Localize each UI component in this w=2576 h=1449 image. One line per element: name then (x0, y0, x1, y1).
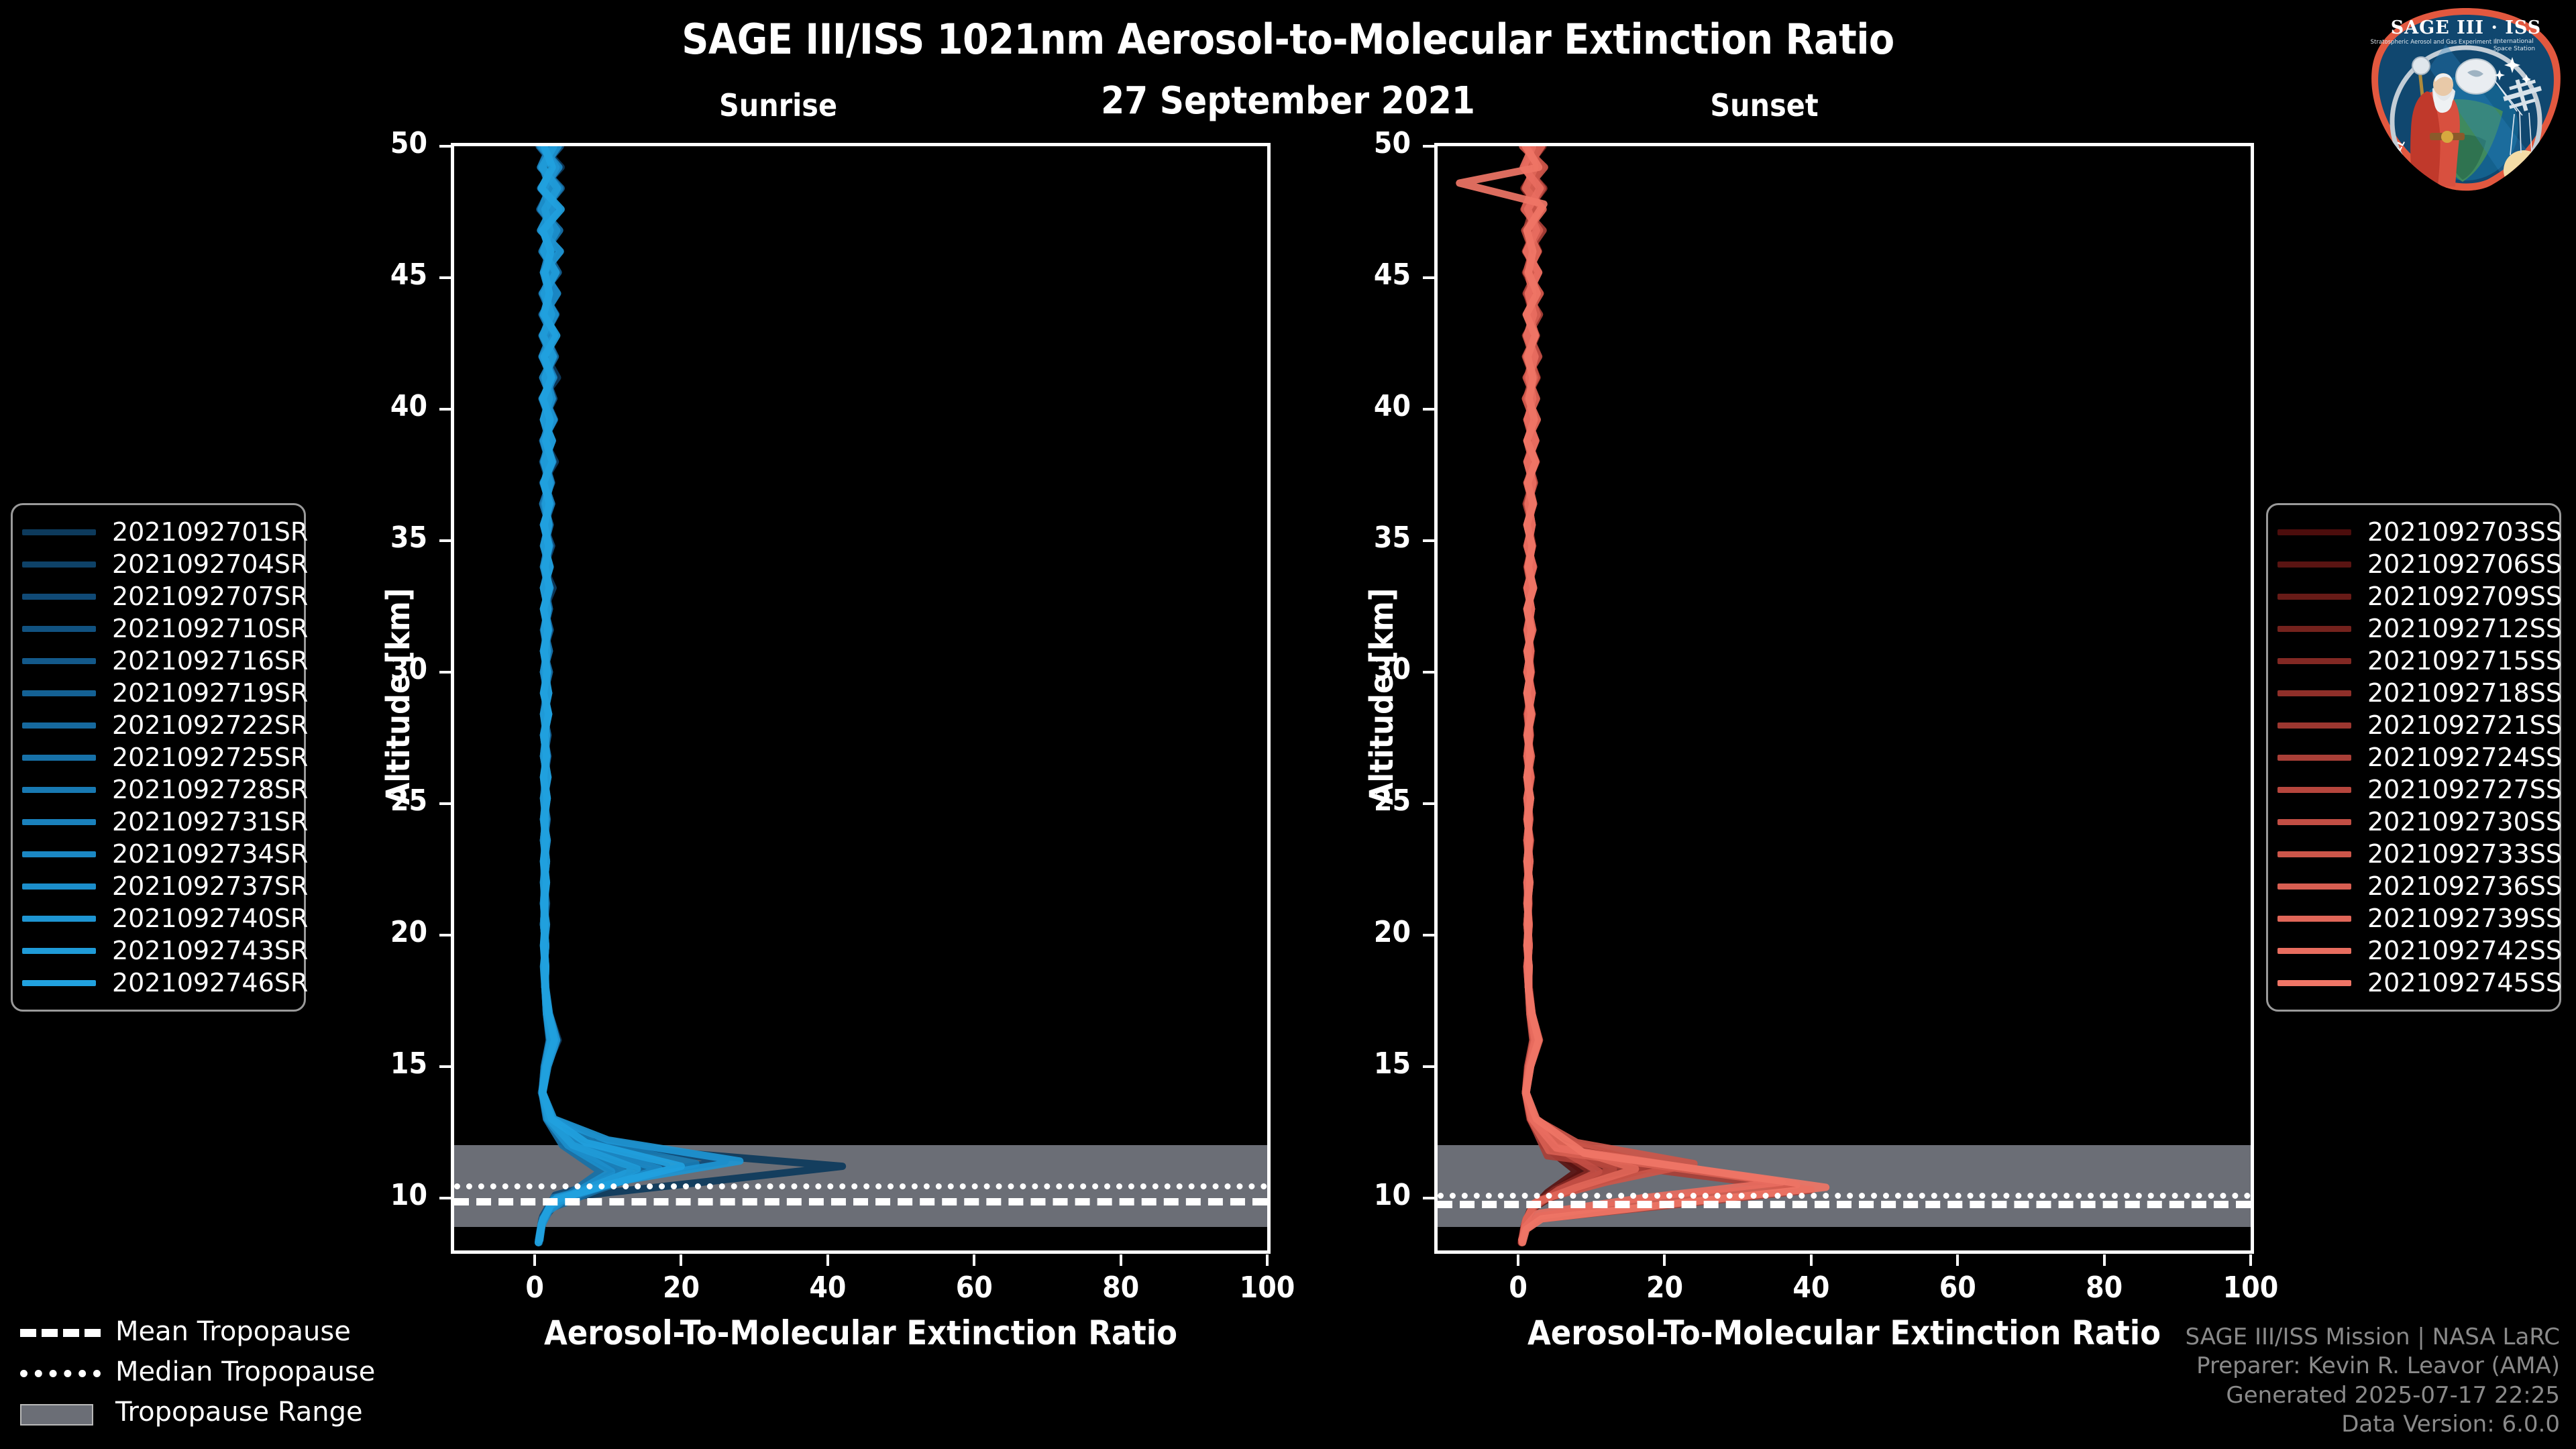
sunrise-x-axis-label: Aerosol-To-Molecular Extinction Ratio (451, 1313, 1271, 1352)
y-tick-mark (439, 1197, 451, 1199)
legend-item-label: 2021092731SR (112, 807, 308, 837)
x-tick-label: 20 (1611, 1271, 1718, 1305)
y-tick-mark (439, 1065, 451, 1068)
legend-item-label: 2021092706SS (2367, 549, 2562, 579)
legend-item-2021092707SR[interactable]: 2021092707SR (22, 580, 294, 612)
sunrise-panel-label: Sunrise (624, 87, 932, 123)
y-tick-mark (439, 934, 451, 936)
y-tick-label: 15 (327, 1046, 427, 1081)
x-tick-label: 40 (774, 1271, 881, 1305)
date-subtitle: 27 September 2021 (0, 79, 2576, 123)
series-line (539, 146, 725, 1237)
legend-item-2021092728SR[interactable]: 2021092728SR (22, 773, 294, 806)
legend-color-swatch (22, 883, 96, 890)
legend-item-2021092737SR[interactable]: 2021092737SR (22, 870, 294, 902)
legend-item-2021092709SS[interactable]: 2021092709SS (2277, 580, 2550, 612)
legend-item-2021092706SS[interactable]: 2021092706SS (2277, 548, 2550, 580)
legend-color-swatch (22, 851, 96, 857)
x-tick-label: 60 (1904, 1271, 2011, 1305)
svg-text:ESA: ESA (2532, 158, 2551, 180)
legend-item-label: 2021092740SR (112, 904, 308, 933)
sunset-trace-group (1438, 146, 2251, 1250)
legend-color-swatch (22, 626, 96, 632)
legend-item-2021092745SS[interactable]: 2021092745SS (2277, 967, 2550, 999)
legend-item-label: 2021092701SR (112, 517, 308, 547)
legend-color-swatch (2277, 851, 2351, 857)
legend-item-2021092703SS[interactable]: 2021092703SS (2277, 516, 2550, 548)
y-tick-mark (1423, 802, 1434, 805)
x-tick-mark (1663, 1254, 1666, 1266)
legend-item-2021092731SR[interactable]: 2021092731SR (22, 806, 294, 838)
legend-item-2021092730SS[interactable]: 2021092730SS (2277, 806, 2550, 838)
y-tick-mark (1423, 671, 1434, 674)
sunset-x-axis-label: Aerosol-To-Molecular Extinction Ratio (1434, 1313, 2254, 1352)
legend-item-2021092716SR[interactable]: 2021092716SR (22, 645, 294, 677)
series-line (539, 146, 696, 1240)
y-tick-label: 35 (327, 521, 427, 555)
sunset-series-legend[interactable]: 2021092703SS2021092706SS2021092709SS2021… (2266, 503, 2561, 1012)
median-tropopause-line (1438, 1193, 2251, 1199)
legend-item-label: 2021092707SR (112, 582, 308, 611)
y-tick-mark (1423, 539, 1434, 542)
series-line (1523, 146, 1695, 1240)
credits-line: Preparer: Kevin R. Leavor (AMA) (2185, 1352, 2560, 1381)
series-line (1522, 146, 1796, 1240)
legend-item-label: 2021092736SS (2367, 871, 2562, 901)
sunset-y-axis-label: Altitude [km] (1363, 588, 1401, 805)
series-line (539, 146, 637, 1242)
legend-color-swatch (2277, 594, 2351, 600)
y-tick-mark (1423, 276, 1434, 279)
legend-color-swatch (2277, 980, 2351, 986)
tropopause-key-item: Mean Tropopause (20, 1311, 449, 1352)
x-tick-label: 0 (481, 1271, 588, 1305)
series-line (1460, 146, 1826, 1242)
legend-item-2021092739SS[interactable]: 2021092739SS (2277, 902, 2550, 934)
y-tick-mark (1423, 145, 1434, 148)
legend-color-swatch (22, 529, 96, 535)
x-tick-label: 0 (1464, 1271, 1572, 1305)
legend-item-label: 2021092733SS (2367, 839, 2562, 869)
sunrise-plot-area (451, 143, 1271, 1254)
legend-color-swatch (22, 755, 96, 761)
svg-text:TAS-I: TAS-I (2522, 176, 2548, 199)
y-tick-mark (1423, 1065, 1434, 1068)
legend-color-swatch (22, 594, 96, 600)
x-tick-mark (2103, 1254, 2106, 1266)
x-tick-mark (1120, 1254, 1122, 1266)
x-tick-mark (1810, 1254, 1813, 1266)
legend-item-2021092727SS[interactable]: 2021092727SS (2277, 773, 2550, 806)
legend-item-label: 2021092727SS (2367, 775, 2562, 804)
legend-color-swatch (22, 658, 96, 664)
y-tick-label: 15 (1310, 1046, 1411, 1081)
x-tick-label: 100 (2197, 1271, 2304, 1305)
legend-item-label: 2021092724SS (2367, 743, 2562, 772)
legend-color-swatch (22, 819, 96, 825)
shaded-band-icon (20, 1403, 101, 1421)
y-tick-label: 20 (327, 915, 427, 949)
tropopause-legend: Mean TropopauseMedian TropopauseTropopau… (20, 1311, 449, 1432)
x-tick-label: 100 (1214, 1271, 1321, 1305)
credits-line: Data Version: 6.0.0 (2185, 1410, 2560, 1440)
legend-color-swatch (2277, 561, 2351, 568)
legend-item-label: 2021092710SR (112, 614, 308, 643)
legend-item-label: 2021092703SS (2367, 517, 2562, 547)
y-tick-label: 40 (1310, 389, 1411, 423)
credits-line: Generated 2025-07-17 22:25 (2185, 1381, 2560, 1411)
x-tick-label: 80 (1067, 1271, 1175, 1305)
sunrise-y-axis-label: Altitude [km] (380, 588, 417, 805)
svg-text:Stratospheric Aerosol and Gas: Stratospheric Aerosol and Gas Experiment… (2371, 39, 2499, 46)
x-tick-label: 20 (627, 1271, 735, 1305)
legend-item-label: 2021092722SR (112, 710, 308, 740)
credits-line: SAGE III/ISS Mission | NASA LaRC (2185, 1323, 2560, 1352)
svg-text:Space Station: Space Station (2493, 46, 2535, 52)
legend-item-label: 2021092737SR (112, 871, 308, 901)
legend-item-label: 2021092739SS (2367, 904, 2562, 933)
legend-item-label: 2021092725SR (112, 743, 308, 772)
dotted-line-icon (20, 1363, 101, 1381)
legend-item-2021092724SS[interactable]: 2021092724SS (2277, 741, 2550, 773)
legend-item-label: 2021092716SR (112, 646, 308, 676)
credits-block: SAGE III/ISS Mission | NASA LaRCPreparer… (2185, 1323, 2560, 1440)
legend-color-swatch (2277, 787, 2351, 793)
legend-color-swatch (22, 787, 96, 793)
y-tick-mark (1423, 408, 1434, 411)
legend-item-label: 2021092746SR (112, 968, 308, 998)
legend-item-label: 2021092719SR (112, 678, 308, 708)
x-tick-mark (826, 1254, 829, 1266)
legend-item-2021092701SR[interactable]: 2021092701SR (22, 516, 294, 548)
legend-color-swatch (22, 948, 96, 954)
page-title: SAGE III/ISS 1021nm Aerosol-to-Molecular… (0, 15, 2576, 64)
y-tick-label: 10 (1310, 1178, 1411, 1212)
legend-color-swatch (2277, 819, 2351, 825)
x-tick-label: 40 (1758, 1271, 1865, 1305)
x-tick-label: 60 (920, 1271, 1028, 1305)
y-tick-mark (439, 539, 451, 542)
x-tick-mark (1266, 1254, 1269, 1266)
y-tick-mark (439, 408, 451, 411)
x-tick-mark (680, 1254, 682, 1266)
mean-tropopause-line (454, 1198, 1267, 1205)
series-line (539, 146, 667, 1240)
legend-item-2021092740SR[interactable]: 2021092740SR (22, 902, 294, 934)
series-line (539, 146, 682, 1240)
y-tick-mark (439, 276, 451, 279)
y-tick-label: 45 (327, 258, 427, 292)
dashed-line-icon (20, 1323, 101, 1340)
sunset-plot-area (1434, 143, 2254, 1254)
tropopause-key-label: Tropopause Range (115, 1397, 363, 1428)
x-tick-label: 80 (2051, 1271, 2158, 1305)
legend-item-2021092722SR[interactable]: 2021092722SR (22, 709, 294, 741)
legend-item-2021092733SS[interactable]: 2021092733SS (2277, 838, 2550, 870)
sunrise-trace-group (454, 146, 1267, 1250)
y-tick-mark (439, 802, 451, 805)
legend-color-swatch (22, 690, 96, 696)
legend-item-label: 2021092743SR (112, 936, 308, 965)
legend-color-swatch (2277, 755, 2351, 761)
median-tropopause-line (454, 1183, 1267, 1189)
legend-item-2021092725SR[interactable]: 2021092725SR (22, 741, 294, 773)
series-line (539, 146, 843, 1240)
y-tick-label: 40 (327, 389, 427, 423)
tropopause-key-item: Tropopause Range (20, 1392, 449, 1432)
y-tick-mark (439, 671, 451, 674)
legend-item-2021092704SR[interactable]: 2021092704SR (22, 548, 294, 580)
legend-item-2021092742SS[interactable]: 2021092742SS (2277, 934, 2550, 967)
legend-color-swatch (2277, 883, 2351, 890)
legend-item-label: 2021092709SS (2367, 582, 2562, 611)
legend-item-2021092715SS[interactable]: 2021092715SS (2277, 645, 2550, 677)
sage3-iss-mission-patch-logo: BALL N ESA TAS-I SAGE III · ISS Stratosp… (2365, 4, 2567, 199)
y-tick-label: 50 (1310, 126, 1411, 160)
x-tick-mark (2249, 1254, 2252, 1266)
legend-item-2021092746SR[interactable]: 2021092746SR (22, 967, 294, 999)
legend-item-2021092721SS[interactable]: 2021092721SS (2277, 709, 2550, 741)
legend-item-label: 2021092745SS (2367, 968, 2562, 998)
tropopause-key-label: Median Tropopause (115, 1356, 375, 1387)
legend-item-2021092743SR[interactable]: 2021092743SR (22, 934, 294, 967)
x-tick-mark (1517, 1254, 1519, 1266)
legend-item-label: 2021092704SR (112, 549, 308, 579)
legend-color-swatch (22, 561, 96, 568)
tropopause-key-label: Mean Tropopause (115, 1316, 351, 1347)
series-line (1522, 146, 1782, 1240)
y-tick-label: 10 (327, 1178, 427, 1212)
legend-item-label: 2021092734SR (112, 839, 308, 869)
legend-item-label: 2021092715SS (2367, 646, 2562, 676)
y-tick-label: 45 (1310, 258, 1411, 292)
x-tick-mark (533, 1254, 536, 1266)
legend-item-2021092712SS[interactable]: 2021092712SS (2277, 612, 2550, 645)
legend-color-swatch (2277, 916, 2351, 922)
legend-color-swatch (22, 916, 96, 922)
y-tick-label: 35 (1310, 521, 1411, 555)
x-tick-mark (1956, 1254, 1959, 1266)
legend-item-label: 2021092728SR (112, 775, 308, 804)
legend-color-swatch (2277, 626, 2351, 632)
svg-text:SAGE III · ISS: SAGE III · ISS (2391, 17, 2542, 38)
legend-item-label: 2021092730SS (2367, 807, 2562, 837)
svg-text:International: International (2495, 38, 2533, 45)
series-line (1523, 146, 1658, 1240)
legend-item-2021092734SR[interactable]: 2021092734SR (22, 838, 294, 870)
y-tick-label: 20 (1310, 915, 1411, 949)
legend-item-2021092710SR[interactable]: 2021092710SR (22, 612, 294, 645)
legend-color-swatch (2277, 948, 2351, 954)
sunrise-series-legend[interactable]: 2021092701SR2021092704SR2021092707SR2021… (11, 503, 306, 1012)
legend-color-swatch (2277, 722, 2351, 729)
legend-color-swatch (2277, 529, 2351, 535)
legend-item-label: 2021092712SS (2367, 614, 2562, 643)
legend-item-2021092736SS[interactable]: 2021092736SS (2277, 870, 2550, 902)
x-tick-mark (973, 1254, 975, 1266)
legend-color-swatch (2277, 690, 2351, 696)
svg-text:N: N (2410, 176, 2421, 189)
legend-color-swatch (22, 980, 96, 986)
y-tick-mark (439, 145, 451, 148)
legend-color-swatch (2277, 658, 2351, 664)
y-tick-mark (1423, 1197, 1434, 1199)
y-tick-mark (1423, 934, 1434, 936)
mean-tropopause-line (1438, 1201, 2251, 1208)
legend-color-swatch (22, 722, 96, 729)
tropopause-key-item: Median Tropopause (20, 1352, 449, 1392)
legend-item-label: 2021092718SS (2367, 678, 2562, 708)
legend-item-label: 2021092721SS (2367, 710, 2562, 740)
sunset-panel-label: Sunset (1610, 87, 1919, 123)
series-line (1522, 146, 1811, 1240)
y-tick-label: 50 (327, 126, 427, 160)
series-line (540, 146, 740, 1240)
legend-item-2021092719SR[interactable]: 2021092719SR (22, 677, 294, 709)
legend-item-2021092718SS[interactable]: 2021092718SS (2277, 677, 2550, 709)
legend-item-label: 2021092742SS (2367, 936, 2562, 965)
